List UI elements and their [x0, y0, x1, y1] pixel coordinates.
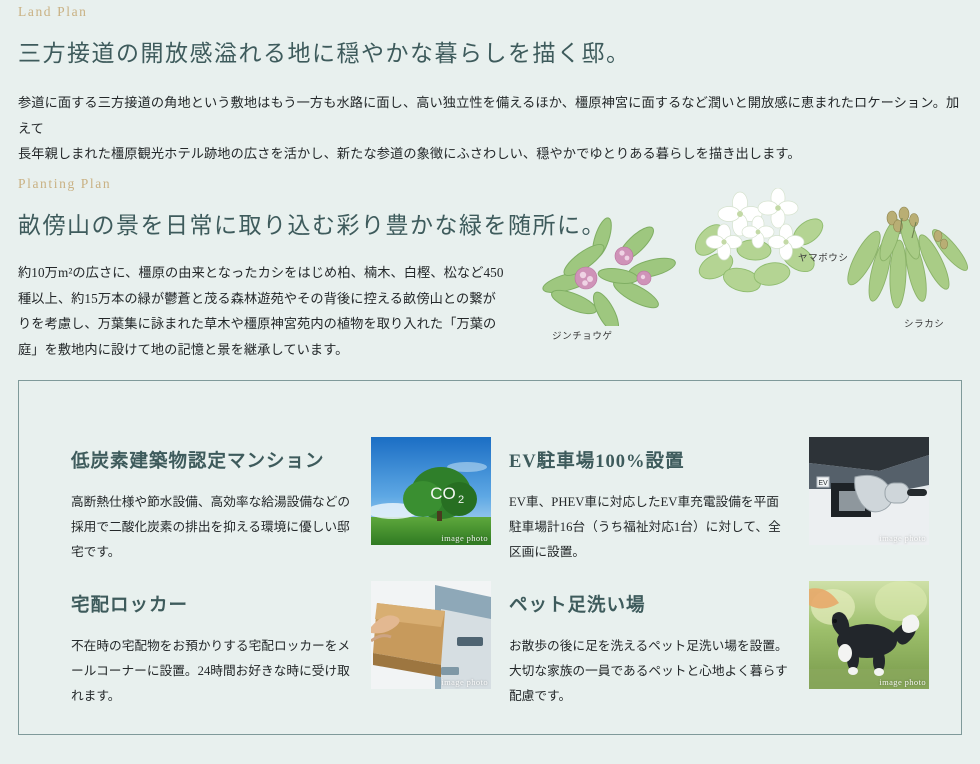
- feature-description: 不在時の宅配物をお預かりする宅配ロッカーをメールコーナーに設置。24時間お好きな…: [71, 634, 353, 708]
- ev-charging-image: EV: [809, 437, 929, 545]
- features-panel: 低炭素建築物認定マンション 高断熱仕様や節水設備、高効率な給湯設備などの採用で二…: [18, 380, 962, 735]
- pet-dog-image: [809, 581, 929, 689]
- photo-credit: image photo: [879, 677, 926, 687]
- feature-description: 高断熱仕様や節水設備、高効率な給湯設備などの採用で二酸化炭素の排出を抑える環境に…: [71, 490, 353, 564]
- co2-tree-photo: CO 2 image photo: [371, 437, 491, 545]
- land-plan-title: 三方接道の開放感溢れる地に穏やかな暮らしを描く邸。: [18, 34, 962, 68]
- dogwood-illustration: [680, 188, 850, 300]
- feature-description: お散歩の後に足を洗えるペット足洗い場を設置。大切な家族の一員であるペットと心地よ…: [509, 634, 791, 708]
- feature-title: EV駐車場100%設置: [509, 452, 791, 472]
- ev-charging-photo: EV image photo: [809, 437, 929, 545]
- feature-text: ペット足洗い場 お散歩の後に足を洗えるペット足洗い場を設置。大切な家族の一員であ…: [509, 577, 791, 721]
- feature-title: 宅配ロッカー: [71, 596, 353, 616]
- feature-title: 低炭素建築物認定マンション: [71, 452, 353, 472]
- feature-card-ev-parking: EV駐車場100%設置 EV車、PHEV車に対応したEV車充電設備を平面駐車場計…: [509, 433, 929, 573]
- feature-title: ペット足洗い場: [509, 596, 791, 616]
- white-oak-illustration: [840, 204, 980, 316]
- photo-credit: image photo: [441, 533, 488, 543]
- feature-card-delivery-locker: 宅配ロッカー 不在時の宅配物をお預かりする宅配ロッカーをメールコーナーに設置。2…: [71, 577, 491, 717]
- svg-text:EV: EV: [818, 480, 828, 487]
- feature-text: 宅配ロッカー 不在時の宅配物をお預かりする宅配ロッカーをメールコーナーに設置。2…: [71, 577, 353, 721]
- plant-item-daphne: ジンチョウゲ: [540, 216, 690, 338]
- feature-text: EV駐車場100%設置 EV車、PHEV車に対応したEV車充電設備を平面駐車場計…: [509, 433, 791, 577]
- photo-credit: image photo: [879, 533, 926, 543]
- plant-label-daphne: ジンチョウゲ: [552, 328, 613, 342]
- plant-illustration-gallery: ジンチョウゲ: [520, 188, 972, 338]
- co2-tree-image: CO 2: [371, 437, 491, 545]
- delivery-locker-image: [371, 581, 491, 689]
- feature-text: 低炭素建築物認定マンション 高断熱仕様や節水設備、高効率な給湯設備などの採用で二…: [71, 433, 353, 577]
- land-plan-body-line-2: 長年親しまれた橿原観光ホテル跡地の広さを活かし、新たな参道の象徴にふさわしい、穏…: [18, 146, 801, 161]
- planting-plan-section: Planting Plan 畝傍山の景を日常に取り込む彩り豊かな緑を随所に。 約…: [18, 176, 518, 376]
- daphne-illustration: [540, 216, 690, 326]
- feature-card-pet-wash: ペット足洗い場 お散歩の後に足を洗えるペット足洗い場を設置。大切な家族の一員であ…: [509, 577, 929, 717]
- svg-text:CO: CO: [430, 484, 456, 503]
- planting-plan-body: 約10万m²の広さに、橿原の由来となったカシをはじめ柏、楠木、白樫、松など450…: [18, 260, 508, 363]
- planting-plan-eyebrow: Planting Plan: [18, 176, 518, 192]
- land-plan-body: 参道に面する三方接道の角地という敷地はもう一方も水路に面し、高い独立性を備えるほ…: [18, 90, 962, 167]
- plant-item-white-oak: シラカシ: [840, 204, 980, 334]
- feature-card-low-carbon: 低炭素建築物認定マンション 高断熱仕様や節水設備、高効率な給湯設備などの採用で二…: [71, 433, 491, 573]
- feature-description: EV車、PHEV車に対応したEV車充電設備を平面駐車場計16台（うち福祉対応1台…: [509, 490, 791, 564]
- plant-label-white-oak: シラカシ: [904, 316, 944, 330]
- pet-dog-photo: image photo: [809, 581, 929, 689]
- land-plan-section: Land Plan 三方接道の開放感溢れる地に穏やかな暮らしを描く邸。 参道に面…: [18, 4, 962, 180]
- land-plan-eyebrow: Land Plan: [18, 4, 962, 20]
- land-plan-body-line-1: 参道に面する三方接道の角地という敷地はもう一方も水路に面し、高い独立性を備えるほ…: [18, 95, 959, 136]
- delivery-locker-photo: image photo: [371, 581, 491, 689]
- planting-plan-title: 畝傍山の景を日常に取り込む彩り豊かな緑を随所に。: [18, 206, 518, 240]
- feature-grid: 低炭素建築物認定マンション 高断熱仕様や節水設備、高効率な給湯設備などの採用で二…: [19, 381, 961, 734]
- svg-text:2: 2: [458, 494, 464, 506]
- photo-credit: image photo: [441, 677, 488, 687]
